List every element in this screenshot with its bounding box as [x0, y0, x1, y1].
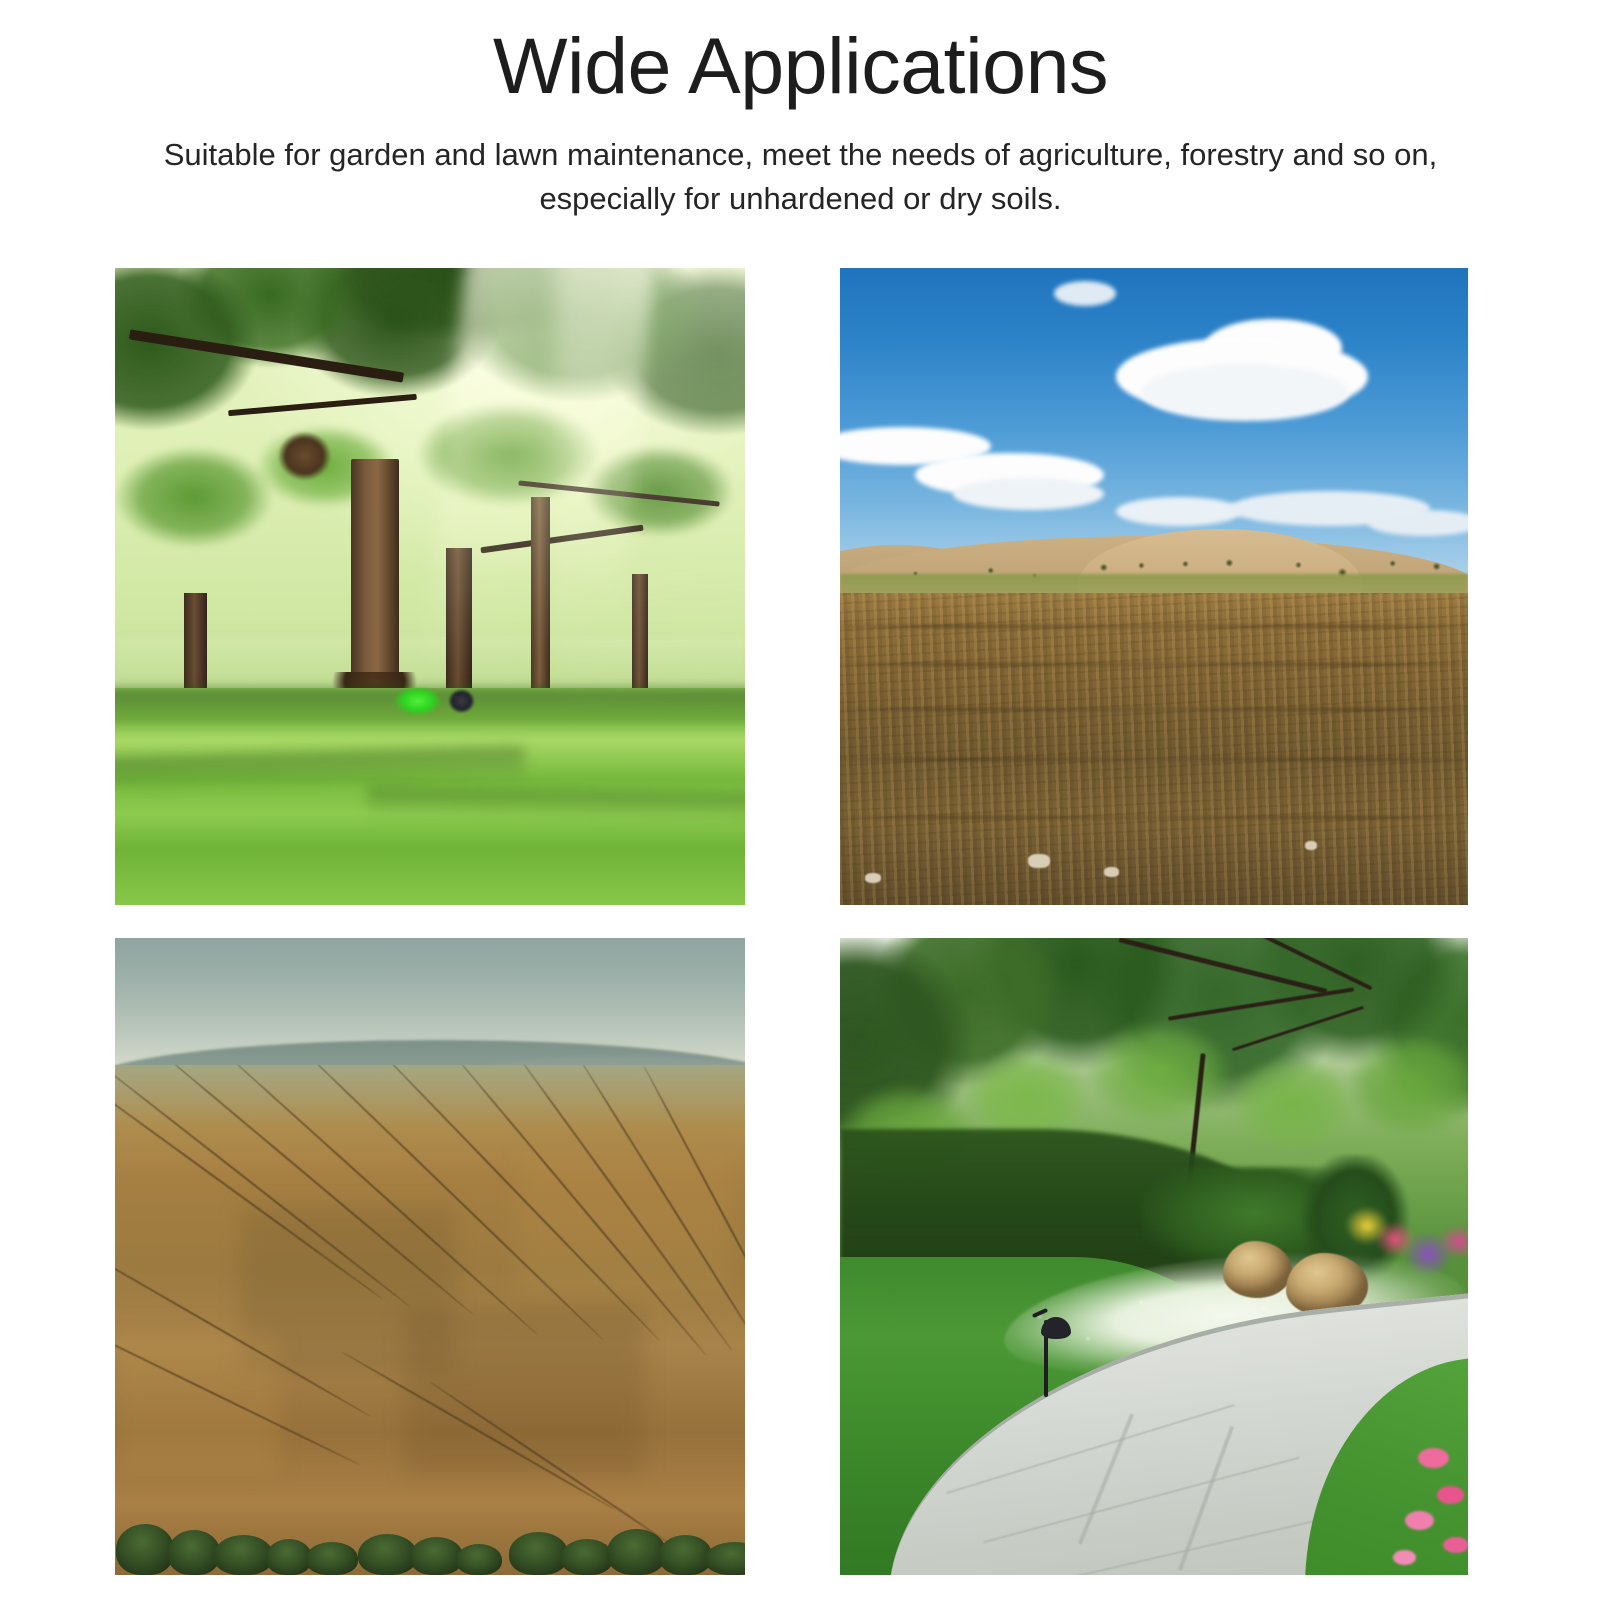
plowed-field-scene — [840, 268, 1468, 905]
cloud — [953, 478, 1104, 510]
tractor-track — [115, 1066, 411, 1308]
field-furrow — [840, 663, 1468, 666]
cloud-large-base — [1141, 364, 1348, 421]
gallery-image-landscaped-garden — [840, 938, 1468, 1575]
field-stone — [865, 873, 881, 883]
cloud — [1368, 510, 1468, 535]
pink-flower — [1437, 1486, 1465, 1504]
field-furrow — [840, 758, 1468, 761]
tractor-track — [454, 1065, 707, 1356]
pink-flower — [1393, 1550, 1417, 1565]
park-lawn-scene — [115, 268, 745, 905]
application-image-grid — [0, 0, 1601, 1601]
park-sunbeam — [556, 268, 745, 809]
garden-scene — [840, 938, 1468, 1575]
gallery-image-park-lawn — [115, 268, 745, 905]
gallery-image-rolling-tilled-field — [115, 938, 745, 1575]
tree — [607, 1529, 666, 1575]
tree — [214, 1535, 273, 1575]
tractor-track — [115, 1239, 371, 1417]
field-soil-texture — [840, 593, 1468, 905]
pink-flower — [1443, 1537, 1468, 1554]
pink-flower — [1418, 1448, 1449, 1468]
tree — [561, 1539, 613, 1575]
field-stone — [1104, 867, 1119, 877]
field-furrow — [840, 625, 1468, 628]
tractor-track — [115, 1320, 359, 1465]
tree — [306, 1542, 358, 1575]
tractor-track — [517, 1065, 733, 1352]
park-foliage-clump — [273, 427, 336, 484]
cloud — [1116, 497, 1242, 526]
bottom-tree-row — [115, 1492, 745, 1575]
tree — [410, 1537, 462, 1575]
tractor-track — [379, 1065, 661, 1341]
wide-applications-page: Wide Applications Suitable for garden an… — [0, 0, 1601, 1601]
rolling-field-scene — [115, 938, 745, 1575]
tree — [168, 1530, 220, 1575]
field-furrow — [840, 816, 1468, 819]
gallery-image-plowed-dry-field — [840, 268, 1468, 905]
tree — [509, 1532, 568, 1575]
field-stone — [1028, 854, 1049, 868]
tractor-track — [643, 1066, 745, 1345]
field-furrow — [840, 708, 1468, 711]
tree — [456, 1544, 502, 1575]
tractor-track — [341, 1351, 615, 1510]
tree — [705, 1542, 745, 1575]
field-stone — [1305, 841, 1318, 850]
tree — [116, 1524, 175, 1575]
tree — [358, 1534, 417, 1575]
tree — [659, 1535, 711, 1575]
